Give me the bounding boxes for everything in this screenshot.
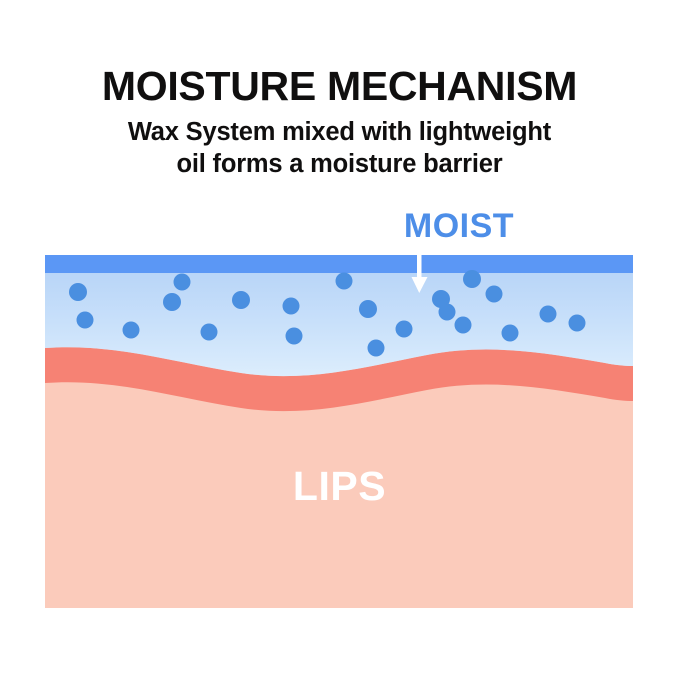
moisture-droplet	[286, 328, 303, 345]
moisture-droplet	[396, 321, 413, 338]
moisture-droplet	[486, 286, 503, 303]
moisture-droplet	[439, 304, 456, 321]
moisture-droplet	[69, 283, 87, 301]
cross-section-svg	[45, 255, 633, 608]
moisture-droplet	[359, 300, 377, 318]
moisture-droplet	[540, 306, 557, 323]
moisture-droplet	[455, 317, 472, 334]
moisture-droplet	[232, 291, 250, 309]
moisture-droplet	[77, 312, 94, 329]
moisture-droplet	[368, 340, 385, 357]
moisture-droplet	[163, 293, 181, 311]
moist-label: MOIST	[369, 209, 549, 243]
wax-surface-band	[45, 255, 633, 273]
moisture-droplet	[502, 325, 519, 342]
illustration-page: MOISTURE MECHANISM Wax System mixed with…	[0, 0, 679, 679]
moisture-droplet	[201, 324, 218, 341]
page-title: MOISTURE MECHANISM	[0, 65, 679, 108]
page-subtitle: Wax System mixed with lightweight oil fo…	[0, 116, 679, 181]
moisture-droplet	[283, 298, 300, 315]
moisture-droplet	[336, 273, 353, 290]
subtitle-line-2: oil forms a moisture barrier	[0, 148, 679, 181]
lips-label: LIPS	[0, 466, 679, 507]
moisture-droplet	[174, 274, 191, 291]
lip-cross-section-diagram	[45, 255, 633, 608]
subtitle-line-1: Wax System mixed with lightweight	[0, 116, 679, 149]
moisture-droplet	[463, 270, 481, 288]
moisture-droplet	[569, 315, 586, 332]
moisture-droplet	[123, 322, 140, 339]
